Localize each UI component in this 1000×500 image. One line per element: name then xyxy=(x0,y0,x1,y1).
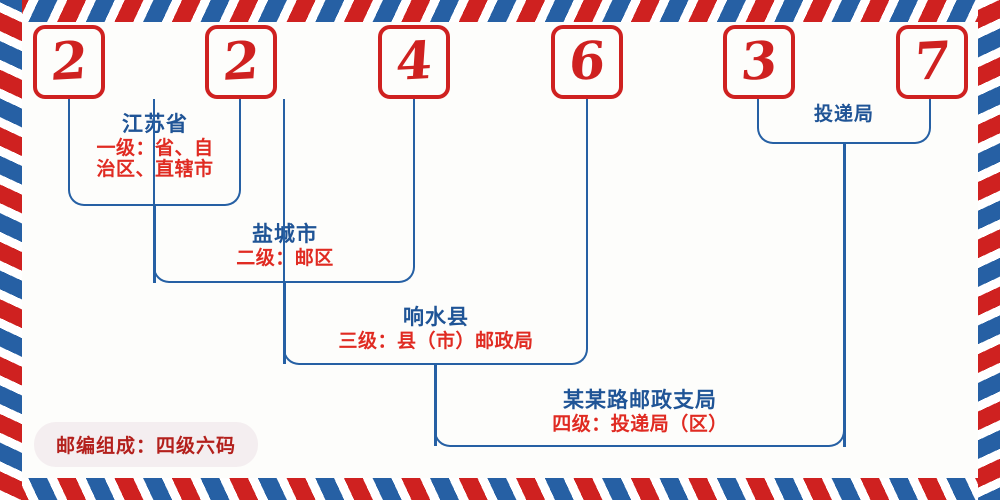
postcode-digit-4: 6 xyxy=(567,35,607,89)
level-3-sub: 三级：县（市）邮政局 xyxy=(300,331,572,352)
envelope-postcode-diagram: 2 2 4 6 3 7 江苏省 一级：省、自 治区、直辖市 盐城市 二级：邮区 xyxy=(0,0,1000,500)
delivery-office-title: 投递局 xyxy=(757,104,931,125)
postcode-digit-box-2: 2 xyxy=(205,25,277,99)
postcode-digit-2: 2 xyxy=(221,35,261,89)
level-4-title: 某某路邮政支局 xyxy=(455,388,825,412)
postcode-digit-1: 2 xyxy=(49,35,89,89)
postcode-composition-badge: 邮编组成：四级六码 xyxy=(34,422,258,467)
level-3-label: 响水县 三级：县（市）邮政局 xyxy=(300,305,572,352)
postcode-digit-box-5: 3 xyxy=(723,25,795,99)
postcode-digit-box-6: 7 xyxy=(896,25,968,99)
postcode-digit-5: 3 xyxy=(739,35,779,89)
delivery-office-label: 投递局 xyxy=(757,104,931,125)
level-3-title: 响水县 xyxy=(300,305,572,329)
postcode-digit-3: 4 xyxy=(394,35,434,89)
level-4-sub: 四级：投递局（区） xyxy=(455,414,825,435)
postcode-digit-box-3: 4 xyxy=(378,25,450,99)
postcode-digit-6: 7 xyxy=(912,35,952,89)
level-4-label: 某某路邮政支局 四级：投递局（区） xyxy=(455,388,825,435)
postcode-digit-box-4: 6 xyxy=(551,25,623,99)
postcode-digit-box-1: 2 xyxy=(33,25,105,99)
